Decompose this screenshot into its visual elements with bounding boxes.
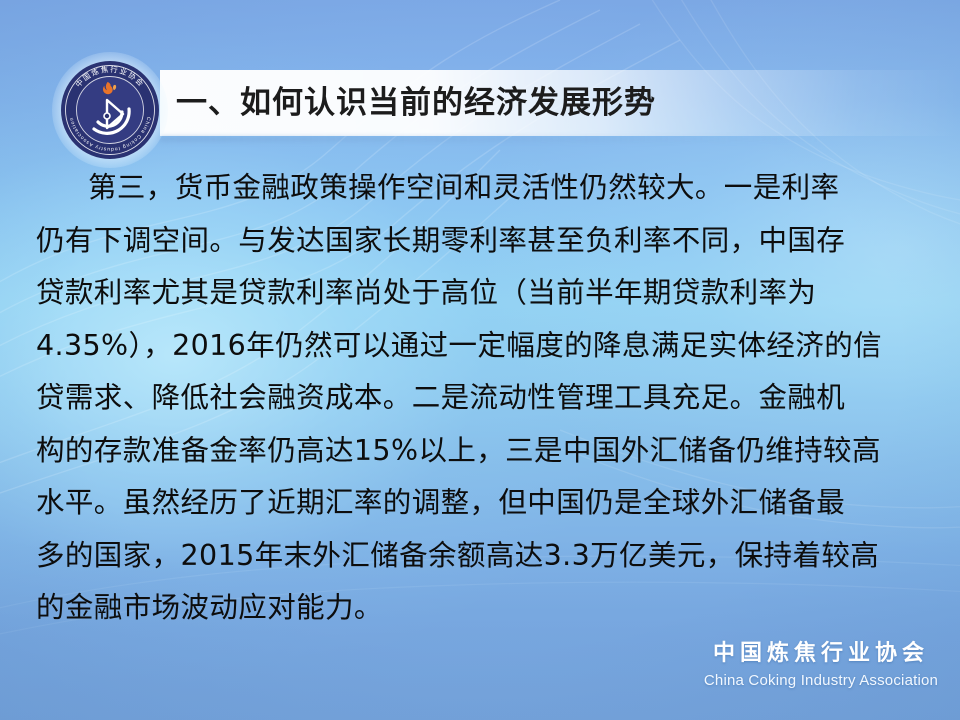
footer-name-en: China Coking Industry Association — [696, 670, 946, 692]
body-line: 贷款利率尤其是贷款利率尚处于高位（当前半年期贷款利率为 — [36, 267, 926, 320]
body-line: 水平。虽然经历了近期汇率的调整，但中国仍是全球外汇储备最 — [36, 477, 926, 530]
association-logo-icon: 中国炼焦行业协会 China Coking Industry Associati… — [60, 60, 160, 160]
body-line: 4.35%），2016年仍然可以通过一定幅度的降息满足实体经济的信 — [36, 320, 926, 373]
slide-body-text: 第三，货币金融政策操作空间和灵活性仍然较大。一是利率 仍有下调空间。与发达国家长… — [36, 162, 926, 635]
association-logo: 中国炼焦行业协会 China Coking Industry Associati… — [52, 52, 168, 168]
body-line: 第三，货币金融政策操作空间和灵活性仍然较大。一是利率 — [36, 162, 926, 215]
title-banner-shadow — [160, 136, 820, 142]
body-line: 仍有下调空间。与发达国家长期零利率甚至负利率不同，中国存 — [36, 215, 926, 268]
body-line: 的金融市场波动应对能力。 — [36, 582, 926, 635]
footer-branding: 中国炼焦行业协会 China Coking Industry Associati… — [696, 640, 946, 692]
body-line: 构的存款准备金率仍高达15%以上，三是中国外汇储备仍维持较高 — [36, 425, 926, 478]
presentation-slide: 一、如何认识当前的经济发展形势 中国炼焦行业协会 China Coking In… — [0, 0, 960, 720]
body-line: 多的国家，2015年末外汇储备余额高达3.3万亿美元，保持着较高 — [36, 530, 926, 583]
body-line: 贷需求、降低社会融资成本。二是流动性管理工具充足。金融机 — [36, 372, 926, 425]
slide-header: 一、如何认识当前的经济发展形势 中国炼焦行业协会 China Coking In… — [0, 0, 960, 160]
page-title: 一、如何认识当前的经济发展形势 — [176, 72, 656, 134]
footer-name-cn: 中国炼焦行业协会 — [696, 640, 946, 668]
